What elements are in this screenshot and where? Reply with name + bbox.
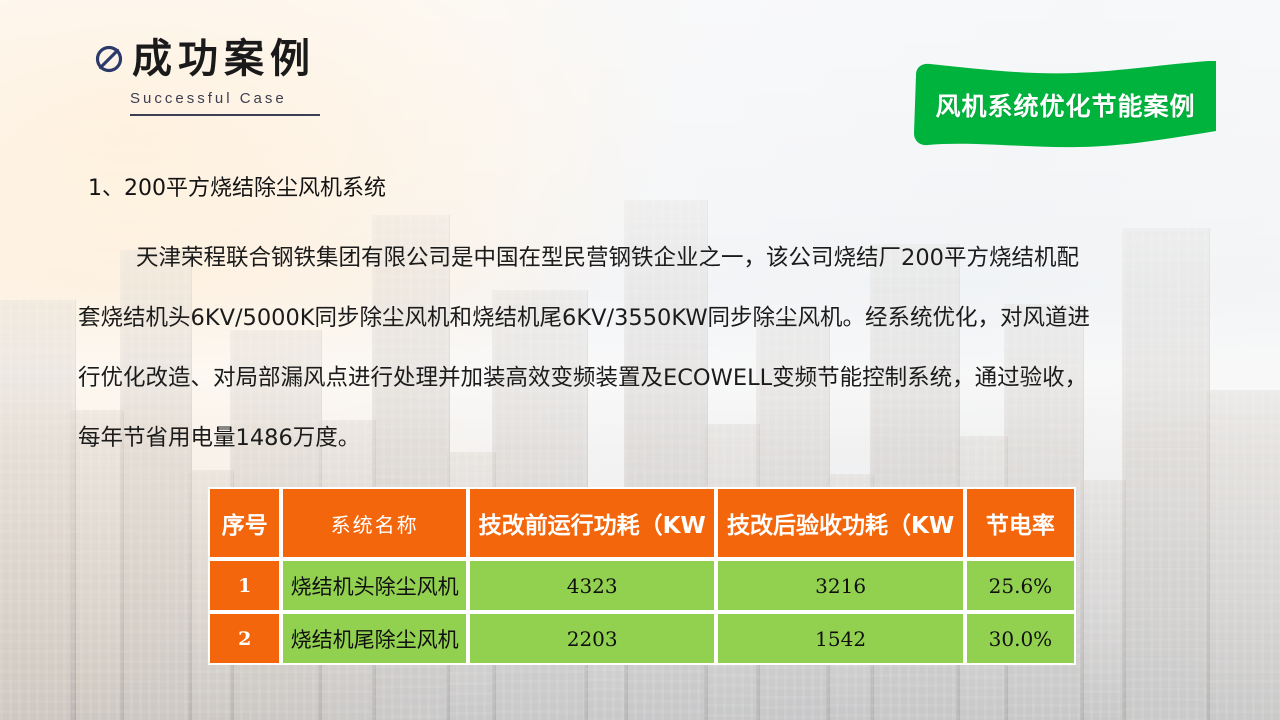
cell-before: 4323 (468, 559, 716, 612)
slide-canvas: 成功案例 Successful Case 风机系统优化节能案例 1、200平方烧… (0, 0, 1280, 720)
cell-before: 2203 (468, 612, 716, 665)
paragraph-line-1: 天津荣程联合钢铁集团有限公司是中国在型民营钢铁企业之一，该公司烧结厂200平方烧… (78, 228, 1274, 288)
col-header-after: 技改后验收功耗（KW (716, 487, 964, 559)
col-header-rate: 节电率 (965, 487, 1076, 559)
table-row: 1 烧结机头除尘风机 4323 3216 25.6% (208, 559, 1076, 612)
col-header-before: 技改前运行功耗（KW (468, 487, 716, 559)
paragraph-line-2: 套烧结机头6KV/5000K同步除尘风机和烧结机尾6KV/3550KW同步除尘风… (78, 288, 1274, 348)
cell-rate: 25.6% (965, 559, 1076, 612)
table-row: 2 烧结机尾除尘风机 2203 1542 30.0% (208, 612, 1076, 665)
subtitle-wrap: Successful Case (92, 90, 320, 116)
title-row: 成功案例 (92, 38, 320, 80)
col-header-index: 序号 (208, 487, 281, 559)
cell-system: 烧结机尾除尘风机 (281, 612, 468, 665)
paragraph-line-3: 行优化改造、对局部漏风点进行处理并加装高效变频装置及ECOWELL变频节能控制系… (78, 348, 1274, 408)
section-heading: 1、200平方烧结除尘风机系统 (88, 170, 386, 202)
slide-header: 成功案例 Successful Case (92, 38, 320, 116)
cell-system: 烧结机头除尘风机 (281, 559, 468, 612)
null-slash-icon (92, 42, 126, 76)
body-paragraph: 天津荣程联合钢铁集团有限公司是中国在型民营钢铁企业之一，该公司烧结厂200平方烧… (78, 228, 1274, 468)
page-title: 成功案例 (132, 38, 316, 80)
title-divider (130, 114, 320, 116)
banner-text: 风机系统优化节能案例 (908, 61, 1223, 149)
cell-after: 3216 (716, 559, 964, 612)
results-table-wrap: 序号 系统名称 技改前运行功耗（KW 技改后验收功耗（KW 节电率 1 烧结机头… (208, 487, 1076, 665)
cell-index: 2 (208, 612, 281, 665)
table-head: 序号 系统名称 技改前运行功耗（KW 技改后验收功耗（KW 节电率 (208, 487, 1076, 559)
cell-index: 1 (208, 559, 281, 612)
col-header-system: 系统名称 (281, 487, 468, 559)
table-header-row: 序号 系统名称 技改前运行功耗（KW 技改后验收功耗（KW 节电率 (208, 487, 1076, 559)
paragraph-line-4: 每年节省用电量1486万度。 (78, 408, 1274, 468)
table-body: 1 烧结机头除尘风机 4323 3216 25.6% 2 烧结机尾除尘风机 22… (208, 559, 1076, 665)
banner-ribbon: 风机系统优化节能案例 (908, 61, 1223, 149)
cell-rate: 30.0% (965, 612, 1076, 665)
results-table: 序号 系统名称 技改前运行功耗（KW 技改后验收功耗（KW 节电率 1 烧结机头… (208, 487, 1076, 665)
page-subtitle: Successful Case (130, 90, 320, 107)
cell-after: 1542 (716, 612, 964, 665)
